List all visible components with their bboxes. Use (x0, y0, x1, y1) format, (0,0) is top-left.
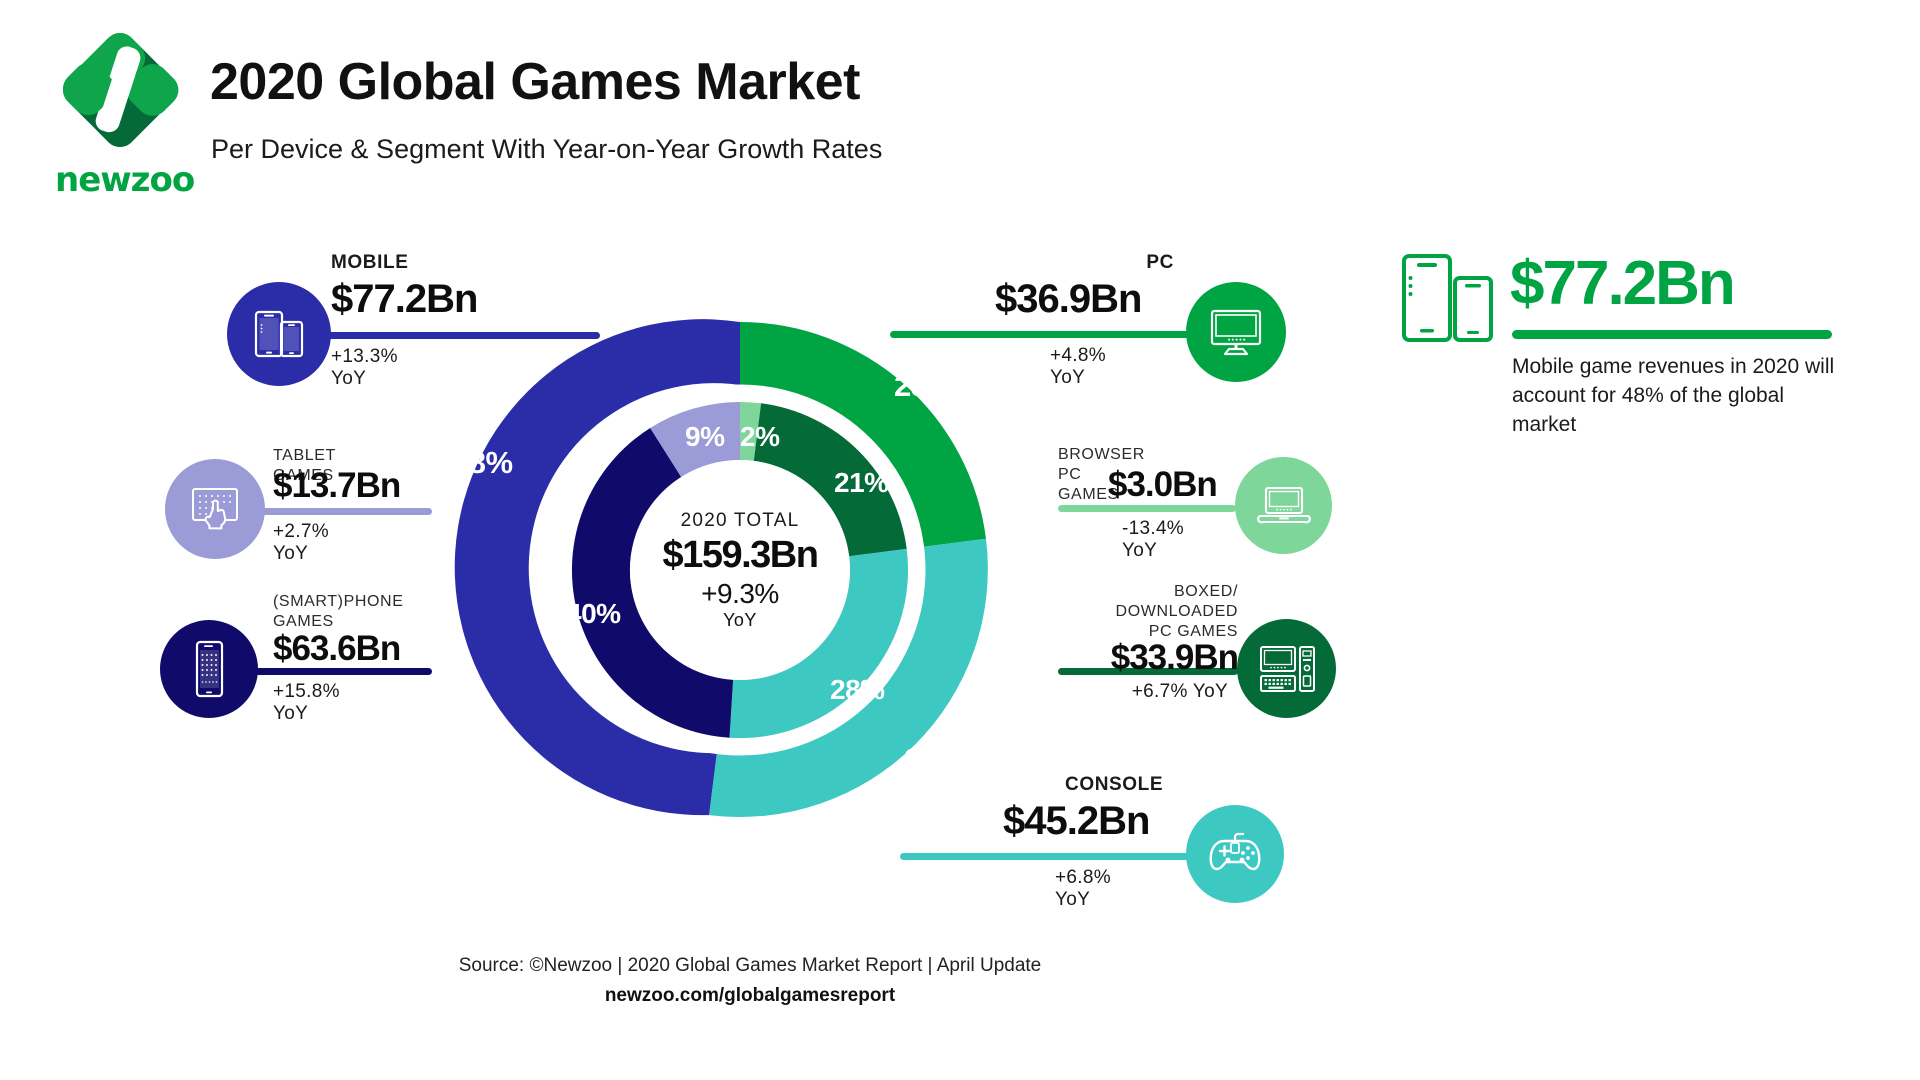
pct-browser-pc: 2% (740, 421, 779, 453)
smartphone-icon-bubble (160, 620, 258, 718)
page-title: 2020 Global Games Market (210, 52, 860, 112)
connector-tablet (260, 508, 432, 515)
laptop-icon (1256, 484, 1312, 528)
highlight-rule (1512, 330, 1832, 339)
browser-pc-value: $3.0Bn (1108, 465, 1217, 505)
boxed-pc-icon-bubble (1237, 619, 1336, 718)
smartphone-value: $63.6Bn (273, 629, 400, 669)
infographic-canvas: newzoo 2020 Global Games Market Per Devi… (0, 0, 1920, 1080)
newzoo-logo: newzoo (55, 28, 185, 198)
donut-center: 2020 TOTAL $159.3Bn +9.3% YoY (630, 460, 850, 680)
connector-browser-pc (1058, 505, 1236, 512)
connector-console (900, 853, 1200, 860)
boxed-pc-label-line2: DOWNLOADED (1058, 602, 1238, 622)
browser-pc-icon-bubble (1235, 457, 1332, 554)
console-yoy: +6.8% YoY (1055, 867, 1111, 911)
pct-console-outer: 28% (904, 742, 965, 778)
tablet-icon-bubble (165, 459, 265, 559)
mobile-devices-outline-icon (1398, 250, 1508, 350)
pct-mobile: 48% (452, 445, 513, 481)
pct-tablet: 9% (685, 421, 724, 453)
connector-pc (890, 331, 1220, 338)
boxed-pc-value: $33.9Bn (1058, 638, 1238, 678)
newzoo-wordmark: newzoo (55, 160, 185, 200)
pct-smartphone: 40% (566, 598, 621, 630)
tablet-touch-icon (186, 482, 244, 536)
gamepad-icon (1204, 829, 1266, 879)
mobile-devices-icon (250, 305, 308, 363)
total-value: $159.3Bn (663, 534, 818, 577)
donut-chart: 48% 23% 28% 40% 9% 2% 21% 28% 2020 TOTAL… (430, 260, 1050, 880)
smartphone-icon (189, 639, 229, 699)
report-url-text[interactable]: newzoo.com/globalgamesreport (605, 985, 895, 1007)
smartphone-label-line1: (SMART)PHONE (273, 592, 403, 612)
desktop-tower-keyboard-icon (1257, 643, 1317, 695)
console-label: CONSOLE (1065, 774, 1163, 796)
total-growth-unit: YoY (723, 610, 757, 631)
mobile-label: MOBILE (331, 252, 409, 274)
browser-pc-yoy: -13.4% YoY (1122, 518, 1184, 562)
boxed-pc-label-line1: BOXED/ (1058, 582, 1238, 602)
pc-icon-bubble (1186, 282, 1286, 382)
source-note-text: Source: ©Newzoo | 2020 Global Games Mark… (459, 955, 1042, 977)
mobile-icon-bubble (227, 282, 331, 386)
highlight-value: $77.2Bn (1510, 248, 1734, 319)
tablet-yoy: +2.7% YoY (273, 521, 329, 565)
boxed-pc-yoy: +6.7% YoY (1058, 681, 1228, 703)
console-icon-bubble (1186, 805, 1284, 903)
console-value: $45.2Bn (1003, 799, 1149, 843)
pct-console-inner: 28% (830, 674, 885, 706)
connector-smartphone (255, 668, 432, 675)
highlight-text: Mobile game revenues in 2020 will accoun… (1512, 352, 1842, 439)
total-growth: +9.3% (701, 578, 779, 610)
pct-pc: 23% (894, 368, 955, 404)
pc-yoy: +4.8% YoY (1050, 345, 1106, 389)
source-note: Source: ©Newzoo | 2020 Global Games Mark… (0, 955, 1920, 977)
pc-label: PC (1139, 252, 1174, 274)
smartphone-yoy: +15.8% YoY (273, 681, 340, 725)
mobile-yoy: +13.3% YoY (331, 346, 398, 390)
pc-value: $36.9Bn (995, 277, 1141, 321)
newzoo-diamond-icon (55, 28, 185, 158)
tablet-value: $13.7Bn (273, 466, 400, 506)
page-subtitle: Per Device & Segment With Year-on-Year G… (211, 134, 882, 165)
desktop-monitor-icon (1207, 306, 1265, 358)
report-url[interactable]: newzoo.com/globalgamesreport (0, 985, 1920, 1007)
total-label: 2020 TOTAL (681, 510, 800, 532)
pct-boxed-pc: 21% (834, 467, 889, 499)
